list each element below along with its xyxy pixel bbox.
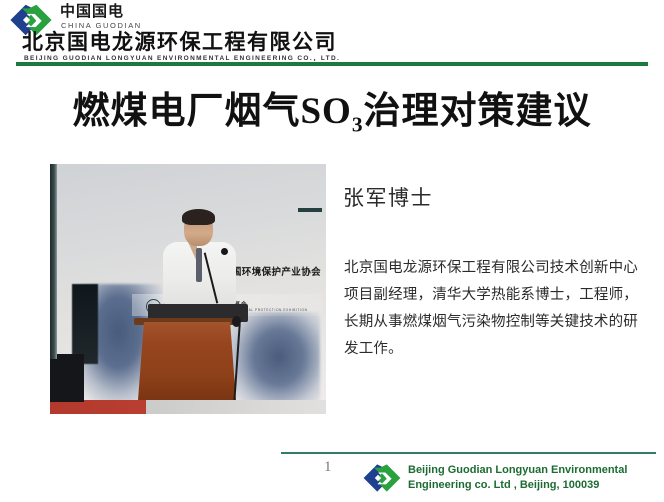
speaker-name: 张军博士	[343, 182, 433, 212]
photo-microphone-head	[221, 248, 228, 255]
footer-company-line-1: Beijing Guodian Longyuan Environmental	[408, 463, 627, 478]
footer-divider	[281, 452, 656, 454]
title-part-2: 治理对策建议	[364, 89, 592, 132]
photo-backdrop-text: 中国环境保护产业协会	[222, 264, 321, 278]
speaker-bio: 北京国电龙源环保工程有限公司技术创新中心项目副经理，清华大学热能系博士，工程师，…	[344, 255, 644, 363]
china-guodian-logo	[362, 462, 402, 494]
company-name-cn-full: 北京国电龙源环保工程有限公司	[22, 31, 337, 54]
slide-canvas: 中国国电 CHINA GUODIAN 北京国电龙源环保工程有限公司 BEIJIN…	[0, 0, 664, 502]
header-divider	[16, 62, 648, 66]
photo-speaker-hair	[182, 209, 215, 225]
photo-chair	[50, 354, 84, 402]
photo-left-wall	[50, 164, 57, 359]
page-number: 1	[324, 459, 332, 476]
title-part-1: 燃煤电厂烟气	[72, 89, 300, 132]
speaker-photo: 中国环境保护产业协会 第十五届中国国际环保展览会 CHINA INTERNATI…	[50, 164, 326, 414]
slide-title: 燃煤电厂烟气SO3治理对策建议	[0, 80, 664, 137]
photo-floor-right	[146, 400, 326, 414]
footer-company-line-2: Engineering co. Ltd , Beijing, 100039	[408, 478, 627, 493]
photo-foreground-shadow	[72, 284, 98, 364]
company-name-cn-short: 中国国电	[60, 3, 124, 20]
photo-podium-body	[138, 322, 236, 400]
title-formula-subscript: 3	[352, 112, 364, 136]
photo-ink-painting-right	[228, 312, 320, 412]
photo-dash-mark	[298, 208, 322, 212]
photo-speaker-tie	[196, 248, 202, 282]
footer-company-text: Beijing Guodian Longyuan Environmental E…	[408, 463, 627, 493]
slide-header: 中国国电 CHINA GUODIAN 北京国电龙源环保工程有限公司 BEIJIN…	[0, 0, 664, 62]
company-name-en-short: CHINA GUODIAN	[61, 21, 142, 30]
title-formula-so: SO	[300, 91, 351, 132]
company-name-en-full: BEIJING GUODIAN LONGYUAN ENVIRONMENTAL E…	[24, 52, 340, 62]
